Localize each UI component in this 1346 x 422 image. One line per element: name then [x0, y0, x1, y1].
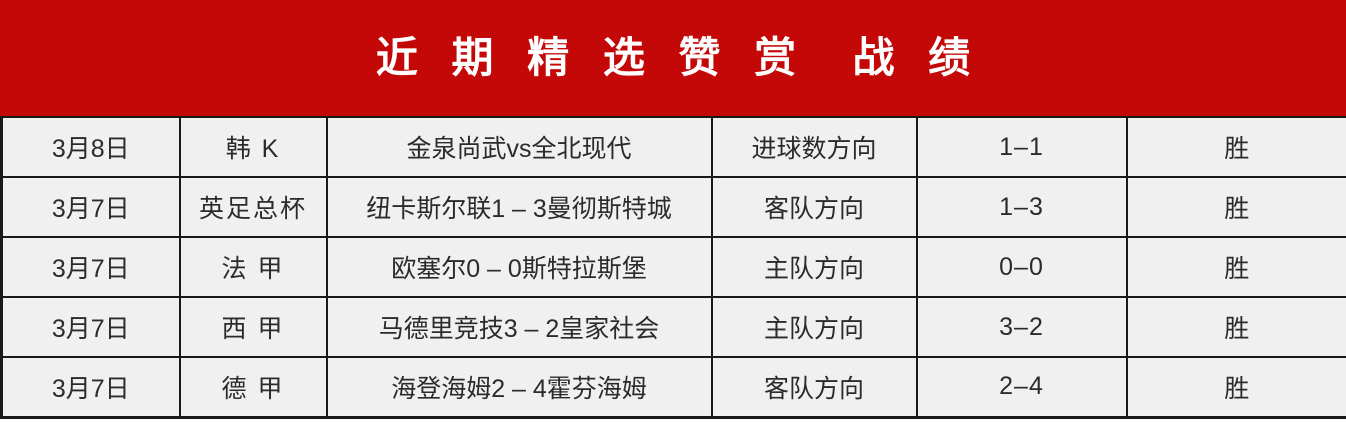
results-table: 3月8日 韩 K 金泉尚武vs全北现代 进球数方向 1–1 胜 3月7日 英足总…: [0, 116, 1346, 419]
cell-score: 3–2: [917, 297, 1127, 357]
table-row: 3月7日 德 甲 海登海姆2 – 4霍芬海姆 客队方向 2–4 胜: [2, 357, 1346, 417]
cell-score: 1–1: [917, 117, 1127, 177]
cell-league: 英足总杯: [180, 177, 327, 237]
cell-result: 胜: [1127, 297, 1346, 357]
cell-direction: 客队方向: [712, 357, 917, 417]
cell-date: 3月7日: [2, 357, 180, 417]
cell-league: 德 甲: [180, 357, 327, 417]
table-row: 3月7日 英足总杯 纽卡斯尔联1 – 3曼彻斯特城 客队方向 1–3 胜: [2, 177, 1346, 237]
cell-match: 纽卡斯尔联1 – 3曼彻斯特城: [327, 177, 712, 237]
table-row: 3月7日 法 甲 欧塞尔0 – 0斯特拉斯堡 主队方向 0–0 胜: [2, 237, 1346, 297]
cell-date: 3月7日: [2, 297, 180, 357]
cell-score: 1–3: [917, 177, 1127, 237]
cell-date: 3月8日: [2, 117, 180, 177]
cell-league: 西 甲: [180, 297, 327, 357]
cell-result: 胜: [1127, 357, 1346, 417]
cell-match: 马德里竞技3 – 2皇家社会: [327, 297, 712, 357]
cell-date: 3月7日: [2, 237, 180, 297]
cell-match: 金泉尚武vs全北现代: [327, 117, 712, 177]
cell-league: 韩 K: [180, 117, 327, 177]
cell-result: 胜: [1127, 117, 1346, 177]
table-row: 3月8日 韩 K 金泉尚武vs全北现代 进球数方向 1–1 胜: [2, 117, 1346, 177]
cell-direction: 主队方向: [712, 297, 917, 357]
cell-match: 海登海姆2 – 4霍芬海姆: [327, 357, 712, 417]
cell-score: 2–4: [917, 357, 1127, 417]
cell-direction: 进球数方向: [712, 117, 917, 177]
cell-result: 胜: [1127, 237, 1346, 297]
cell-result: 胜: [1127, 177, 1346, 237]
cell-match: 欧塞尔0 – 0斯特拉斯堡: [327, 237, 712, 297]
cell-direction: 主队方向: [712, 237, 917, 297]
recent-picks-results-panel: 近 期 精 选 赞 赏 战 绩 3月8日 韩 K 金泉尚武vs全北现代 进球数方…: [0, 0, 1346, 422]
banner-title: 近 期 精 选 赞 赏 战 绩: [365, 37, 981, 79]
cell-date: 3月7日: [2, 177, 180, 237]
banner: 近 期 精 选 赞 赏 战 绩: [0, 0, 1346, 116]
cell-direction: 客队方向: [712, 177, 917, 237]
table-row: 3月7日 西 甲 马德里竞技3 – 2皇家社会 主队方向 3–2 胜: [2, 297, 1346, 357]
results-table-body: 3月8日 韩 K 金泉尚武vs全北现代 进球数方向 1–1 胜 3月7日 英足总…: [2, 117, 1346, 417]
cell-league: 法 甲: [180, 237, 327, 297]
cell-score: 0–0: [917, 237, 1127, 297]
